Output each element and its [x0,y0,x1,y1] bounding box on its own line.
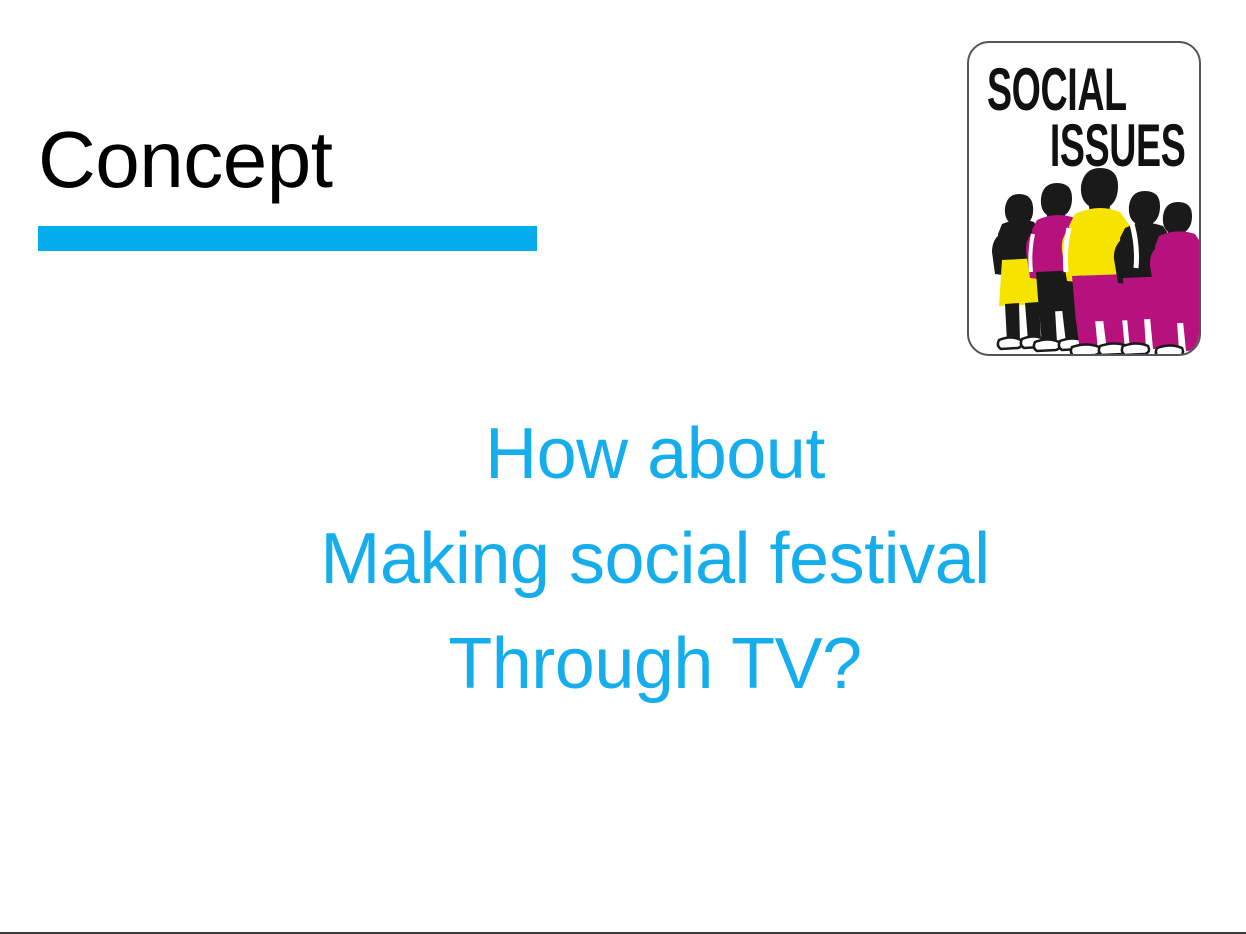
body-line-3: Through TV? [90,612,1220,717]
title-block: Concept [38,118,658,251]
slide-canvas: Concept How about Making social festival… [0,0,1246,934]
social-issues-logo: SOCIAL ISSUES [967,41,1201,356]
body-line-2: Making social festival [90,507,1220,612]
logo-word-social: SOCIAL [987,59,1127,119]
page-title: Concept [38,118,658,202]
body-text-block: How about Making social festival Through… [90,402,1220,717]
logo-wordmark: SOCIAL ISSUES [969,43,1199,171]
title-underline-rule [38,226,537,251]
logo-people-illustration [969,164,1201,354]
body-line-1: How about [90,402,1220,507]
